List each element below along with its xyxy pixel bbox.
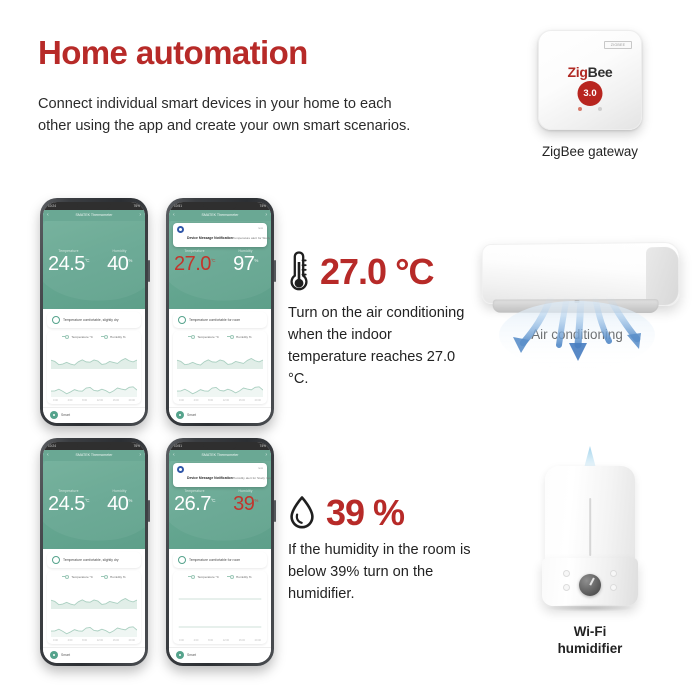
humidifier-unit bbox=[538, 452, 642, 614]
phone-notch bbox=[203, 442, 237, 449]
chart-x-tick: 4:00 bbox=[194, 399, 199, 402]
comfort-status-card[interactable]: Temperature comfortable for room bbox=[173, 552, 267, 568]
gateway-logo: ZigBee bbox=[539, 64, 641, 80]
more-options-icon[interactable]: › bbox=[139, 212, 141, 218]
smart-tab-label: Smart bbox=[61, 653, 70, 657]
callout-temperature-description: Turn on the air conditioning when the in… bbox=[288, 303, 473, 391]
legend-swatch-icon bbox=[227, 576, 234, 577]
humidifier-control-knob[interactable] bbox=[579, 574, 601, 596]
gateway-device-body: ZIGBEE ZigBee 3.0 bbox=[538, 30, 642, 130]
sensor-readouts: Temperature24.5°CHumidity40% bbox=[43, 249, 145, 274]
legend-swatch-icon bbox=[101, 336, 108, 337]
temperature-readout-number: 24.5 bbox=[48, 493, 85, 515]
chart-x-tick: 8:00 bbox=[208, 399, 213, 402]
sparkline-svg bbox=[177, 343, 263, 369]
smart-tab-icon bbox=[176, 651, 184, 659]
history-chart-card: Temperature °CHumidity %0:004:008:0012:0… bbox=[173, 331, 267, 404]
more-options-icon[interactable]: › bbox=[265, 452, 267, 458]
app-screen-title: SMATEK Thermometer bbox=[201, 453, 238, 457]
back-arrow-icon[interactable]: ‹ bbox=[173, 212, 175, 218]
chart-legend-item-humidity: Humidity % bbox=[227, 575, 252, 579]
smart-tab-label: Smart bbox=[61, 413, 70, 417]
phone-screen: 10:5174%‹SMATEK Thermometer›Device Messa… bbox=[169, 202, 271, 423]
legend-swatch-icon bbox=[101, 576, 108, 577]
notification-title: Device Message Notification bbox=[187, 236, 233, 240]
poster-canvas: Home automation Connect individual smart… bbox=[0, 0, 700, 700]
chart-x-tick: 8:00 bbox=[82, 399, 87, 402]
chart-x-axis: 0:004:008:0012:0016:0020:00 bbox=[51, 639, 137, 642]
chart-legend-item-temperature: Temperature °C bbox=[62, 575, 93, 579]
page-subtitle: Connect individual smart devices in your… bbox=[38, 93, 428, 138]
temperature-readout-number: 26.7 bbox=[174, 493, 211, 515]
comfort-status-icon bbox=[178, 556, 186, 564]
phone-screen: 10:2476%‹SMATEK Thermometer›Temperature2… bbox=[43, 202, 145, 423]
sensor-readouts: Temperature24.5°CHumidity40% bbox=[43, 489, 145, 514]
comfort-status-card[interactable]: Temperature comfortable, slightly dry bbox=[47, 312, 141, 328]
chart-x-tick: 20:00 bbox=[255, 639, 261, 642]
callout-humidity-description: If the humidity in the room is below 39%… bbox=[288, 540, 488, 606]
chart-x-axis: 0:004:008:0012:0016:0020:00 bbox=[177, 399, 263, 402]
sparkline-svg bbox=[177, 583, 263, 609]
zigbee-gateway-figure: ZIGBEE ZigBee 3.0 ZigBee gateway bbox=[510, 30, 670, 159]
phone-mockup-temp-alert: 10:5174%‹SMATEK Thermometer›Device Messa… bbox=[166, 198, 274, 426]
history-chart-card: Temperature °CHumidity %0:004:008:0012:0… bbox=[173, 571, 267, 644]
phone-mockup-humidity-normal: 10:2476%‹SMATEK Thermometer›Temperature2… bbox=[40, 438, 148, 666]
humidifier-button-wifi-icon[interactable] bbox=[610, 584, 617, 591]
sparkline-svg bbox=[51, 583, 137, 609]
humidity-readout-value: 40% bbox=[94, 254, 145, 274]
smart-tab-label: Smart bbox=[187, 413, 196, 417]
chart-legend-item-temperature: Temperature °C bbox=[188, 575, 219, 579]
callout-humidity-headline: 39 % bbox=[288, 495, 488, 531]
chart-x-tick: 20:00 bbox=[129, 639, 135, 642]
chart-x-tick: 8:00 bbox=[82, 639, 87, 642]
chart-x-tick: 0:00 bbox=[179, 639, 184, 642]
temperature-readout: Temperature24.5°C bbox=[43, 489, 94, 514]
smart-tab-icon bbox=[50, 411, 58, 419]
sensor-hero-panel: Device Message NotificationTemperature a… bbox=[169, 221, 271, 309]
status-bar-time: 10:51 bbox=[174, 204, 182, 208]
temperature-readout-unit: °C bbox=[85, 258, 89, 263]
notification-title: Device Message Notification bbox=[187, 476, 233, 480]
more-options-icon[interactable]: › bbox=[139, 452, 141, 458]
chart-legend-item-humidity: Humidity % bbox=[227, 335, 252, 339]
legend-label: Humidity % bbox=[110, 575, 126, 579]
humidity-readout-unit: % bbox=[128, 498, 132, 503]
notification-app-icon bbox=[177, 226, 184, 233]
temperature-readout: Temperature27.0°C bbox=[169, 249, 220, 274]
humidifier-figure: Wi-Fi humidifier bbox=[500, 452, 680, 658]
chart-x-tick: 0:00 bbox=[53, 399, 58, 402]
status-bar-time: 10:24 bbox=[48, 444, 56, 448]
temperature-readout-number: 27.0 bbox=[174, 253, 211, 275]
temperature-sparkline bbox=[177, 343, 263, 369]
chart-x-tick: 16:00 bbox=[239, 399, 245, 402]
smart-tab-icon bbox=[176, 411, 184, 419]
legend-label: Temperature °C bbox=[197, 335, 219, 339]
chart-legend: Temperature °CHumidity % bbox=[51, 575, 137, 579]
status-bar-battery: 76% bbox=[134, 444, 140, 448]
chart-x-tick: 4:00 bbox=[68, 639, 73, 642]
humidity-readout-unit: % bbox=[128, 258, 132, 263]
gateway-led-row bbox=[539, 98, 641, 116]
sparkline-svg bbox=[51, 371, 137, 397]
temperature-readout-unit: °C bbox=[211, 498, 215, 503]
app-screen-title: SMATEK Thermometer bbox=[75, 213, 112, 217]
water-drop-icon bbox=[288, 495, 316, 531]
smart-tab-label: Smart bbox=[187, 653, 196, 657]
chart-x-tick: 12:00 bbox=[97, 399, 103, 402]
sparkline-svg bbox=[51, 611, 137, 637]
status-bar-time: 10:24 bbox=[48, 204, 56, 208]
history-chart-card: Temperature °CHumidity %0:004:008:0012:0… bbox=[47, 571, 141, 644]
comfort-status-text: Temperature comfortable, slightly dry bbox=[63, 318, 119, 322]
gateway-led-power-icon bbox=[578, 107, 582, 111]
legend-swatch-icon bbox=[62, 576, 69, 577]
status-bar-battery: 74% bbox=[260, 204, 266, 208]
chart-plots bbox=[51, 342, 137, 399]
humidifier-shadow bbox=[546, 604, 634, 612]
status-bar: 10:2476% bbox=[43, 202, 145, 210]
humidity-sparkline bbox=[51, 611, 137, 637]
chart-legend: Temperature °CHumidity % bbox=[177, 575, 263, 579]
chart-x-tick: 20:00 bbox=[129, 399, 135, 402]
humidity-readout-number: 39 bbox=[233, 493, 254, 515]
phone-mockup-temp-normal: 10:2476%‹SMATEK Thermometer›Temperature2… bbox=[40, 198, 148, 426]
notification-app-icon bbox=[177, 466, 184, 473]
chart-legend-item-temperature: Temperature °C bbox=[188, 335, 219, 339]
temperature-sparkline bbox=[177, 583, 263, 609]
status-bar-time: 10:51 bbox=[174, 444, 182, 448]
phone-screen: 10:5174%‹SMATEK Thermometer›Device Messa… bbox=[169, 442, 271, 663]
legend-swatch-icon bbox=[62, 336, 69, 337]
gateway-chip-label: ZIGBEE bbox=[604, 41, 632, 49]
air-conditioner-unit bbox=[477, 243, 677, 319]
humidity-readout: Humidity40% bbox=[94, 489, 145, 514]
callout-temperature-rule: 27.0 °C Turn on the air conditioning whe… bbox=[288, 250, 473, 391]
chart-plots bbox=[51, 582, 137, 639]
humidity-readout-value: 39% bbox=[220, 494, 271, 514]
status-bar: 10:5174% bbox=[169, 202, 271, 210]
sparkline-svg bbox=[177, 371, 263, 397]
gateway-caption: ZigBee gateway bbox=[510, 144, 670, 159]
chart-x-tick: 20:00 bbox=[255, 399, 261, 402]
legend-swatch-icon bbox=[227, 336, 234, 337]
chart-x-tick: 4:00 bbox=[194, 639, 199, 642]
comfort-status-text: Temperature comfortable for room bbox=[189, 318, 240, 322]
humidity-sparkline bbox=[177, 611, 263, 637]
humidifier-button-timer-icon[interactable] bbox=[563, 584, 570, 591]
comfort-status-text: Temperature comfortable, slightly dry bbox=[63, 558, 119, 562]
app-nav-bar: ‹SMATEK Thermometer› bbox=[43, 450, 145, 461]
phone-notch bbox=[77, 442, 111, 449]
page-title: Home automation bbox=[38, 34, 308, 72]
humidifier-caption-line1: Wi-Fi bbox=[574, 624, 607, 639]
air-conditioner-figure: Air conditioning bbox=[468, 243, 686, 342]
humidifier-button-mode-icon[interactable] bbox=[610, 570, 617, 577]
temperature-readout: Temperature26.7°C bbox=[169, 489, 220, 514]
chart-x-tick: 0:00 bbox=[179, 399, 184, 402]
chart-x-tick: 0:00 bbox=[53, 639, 58, 642]
callout-temperature-value: 27.0 °C bbox=[320, 254, 433, 290]
comfort-status-icon bbox=[52, 556, 60, 564]
chart-x-tick: 16:00 bbox=[113, 399, 119, 402]
comfort-status-card[interactable]: Temperature comfortable, slightly dry bbox=[47, 552, 141, 568]
notification-body: Temperature alert for Study room bbox=[233, 236, 271, 240]
push-notification-banner[interactable]: Device Message NotificationTemperature a… bbox=[173, 223, 267, 247]
smart-tab-bar[interactable]: Smart bbox=[43, 407, 145, 423]
phone-screen: 10:2476%‹SMATEK Thermometer›Temperature2… bbox=[43, 442, 145, 663]
humidifier-water-window bbox=[589, 498, 591, 556]
sensor-readouts: Temperature26.7°CHumidity39% bbox=[169, 489, 271, 514]
legend-label: Humidity % bbox=[110, 335, 126, 339]
temperature-readout-value: 26.7°C bbox=[169, 494, 220, 514]
temperature-readout-value: 24.5°C bbox=[43, 254, 94, 274]
humidity-readout: Humidity40% bbox=[94, 249, 145, 274]
chart-legend-item-humidity: Humidity % bbox=[101, 575, 126, 579]
status-bar-battery: 76% bbox=[134, 204, 140, 208]
humidity-readout-value: 40% bbox=[94, 494, 145, 514]
sensor-hero-panel: Device Message NotificationHumidity aler… bbox=[169, 461, 271, 549]
back-arrow-icon[interactable]: ‹ bbox=[47, 212, 49, 218]
legend-label: Humidity % bbox=[236, 575, 252, 579]
sensor-hero-panel: Temperature24.5°CHumidity40% bbox=[43, 461, 145, 549]
humidity-readout-number: 97 bbox=[233, 253, 254, 275]
thermometer-icon bbox=[288, 250, 310, 294]
chart-plots bbox=[177, 342, 263, 399]
humidity-readout-number: 40 bbox=[107, 493, 128, 515]
gateway-logo-bee: Bee bbox=[588, 64, 613, 80]
smart-tab-bar[interactable]: Smart bbox=[43, 647, 145, 663]
humidity-readout-unit: % bbox=[254, 258, 258, 263]
callout-humidity-rule: 39 % If the humidity in the room is belo… bbox=[288, 495, 488, 606]
temperature-readout-unit: °C bbox=[85, 498, 89, 503]
callout-temperature-headline: 27.0 °C bbox=[288, 250, 473, 294]
notification-time: now bbox=[258, 466, 263, 484]
history-chart-card: Temperature °CHumidity %0:004:008:0012:0… bbox=[47, 331, 141, 404]
gateway-logo-zig: Zig bbox=[568, 64, 588, 80]
comfort-status-icon bbox=[52, 316, 60, 324]
phone-notch bbox=[203, 202, 237, 209]
humidifier-tank bbox=[545, 466, 635, 562]
smart-tab-bar[interactable]: Smart bbox=[169, 407, 271, 423]
humidity-readout-number: 40 bbox=[107, 253, 128, 275]
legend-label: Humidity % bbox=[236, 335, 252, 339]
notification-text: Device Message NotificationHumidity aler… bbox=[187, 466, 255, 484]
sensor-hero-panel: Temperature24.5°CHumidity40% bbox=[43, 221, 145, 309]
legend-label: Temperature °C bbox=[197, 575, 219, 579]
app-screen-title: SMATEK Thermometer bbox=[75, 453, 112, 457]
humidity-readout-unit: % bbox=[254, 498, 258, 503]
legend-label: Temperature °C bbox=[71, 335, 93, 339]
gateway-led-network-icon bbox=[598, 107, 602, 111]
legend-swatch-icon bbox=[188, 576, 195, 577]
humidity-readout-value: 97% bbox=[220, 254, 271, 274]
sensor-readouts: Temperature27.0°CHumidity97% bbox=[169, 249, 271, 274]
comfort-status-icon bbox=[178, 316, 186, 324]
chart-legend: Temperature °CHumidity % bbox=[51, 335, 137, 339]
status-bar: 10:5174% bbox=[169, 442, 271, 450]
humidifier-button-power-icon[interactable] bbox=[563, 570, 570, 577]
callout-humidity-value: 39 % bbox=[326, 495, 404, 531]
chart-x-axis: 0:004:008:0012:0016:0020:00 bbox=[51, 399, 137, 402]
chart-legend-item-temperature: Temperature °C bbox=[62, 335, 93, 339]
push-notification-banner[interactable]: Device Message NotificationHumidity aler… bbox=[173, 463, 267, 487]
chart-x-tick: 16:00 bbox=[239, 639, 245, 642]
app-nav-bar: ‹SMATEK Thermometer› bbox=[169, 210, 271, 221]
back-arrow-icon[interactable]: ‹ bbox=[173, 452, 175, 458]
chart-x-tick: 16:00 bbox=[113, 639, 119, 642]
smart-tab-bar[interactable]: Smart bbox=[169, 647, 271, 663]
chart-x-axis: 0:004:008:0012:0016:0020:00 bbox=[177, 639, 263, 642]
ac-airflow-icon bbox=[477, 295, 677, 373]
temperature-readout-number: 24.5 bbox=[48, 253, 85, 275]
status-bar-battery: 74% bbox=[260, 444, 266, 448]
comfort-status-card[interactable]: Temperature comfortable for room bbox=[173, 312, 267, 328]
chart-x-tick: 12:00 bbox=[223, 639, 229, 642]
chart-legend: Temperature °CHumidity % bbox=[177, 335, 263, 339]
chart-x-tick: 12:00 bbox=[223, 399, 229, 402]
sparkline-svg bbox=[177, 611, 263, 637]
humidifier-caption: Wi-Fi humidifier bbox=[500, 624, 680, 658]
status-bar: 10:2476% bbox=[43, 442, 145, 450]
humidity-sparkline bbox=[177, 371, 263, 397]
notification-time: now bbox=[258, 226, 263, 244]
comfort-status-text: Temperature comfortable for room bbox=[189, 558, 240, 562]
humidity-readout: Humidity39% bbox=[220, 489, 271, 514]
notification-text: Device Message NotificationTemperature a… bbox=[187, 226, 255, 244]
temperature-readout: Temperature24.5°C bbox=[43, 249, 94, 274]
sparkline-svg bbox=[51, 343, 137, 369]
chart-x-tick: 8:00 bbox=[208, 639, 213, 642]
notification-body: Humidity alert for Study room bbox=[233, 476, 271, 480]
phone-notch bbox=[77, 202, 111, 209]
temperature-readout-value: 24.5°C bbox=[43, 494, 94, 514]
humidifier-caption-line2: humidifier bbox=[558, 641, 623, 656]
humidity-readout: Humidity97% bbox=[220, 249, 271, 274]
temperature-readout-unit: °C bbox=[211, 258, 215, 263]
chart-legend-item-humidity: Humidity % bbox=[101, 335, 126, 339]
humidity-sparkline bbox=[51, 371, 137, 397]
temperature-readout-value: 27.0°C bbox=[169, 254, 220, 274]
legend-label: Temperature °C bbox=[71, 575, 93, 579]
temperature-sparkline bbox=[51, 343, 137, 369]
chart-plots bbox=[177, 582, 263, 639]
phone-mockup-humidity-alert: 10:5174%‹SMATEK Thermometer›Device Messa… bbox=[166, 438, 274, 666]
chart-x-tick: 4:00 bbox=[68, 399, 73, 402]
chart-x-tick: 12:00 bbox=[97, 639, 103, 642]
legend-swatch-icon bbox=[188, 336, 195, 337]
app-nav-bar: ‹SMATEK Thermometer› bbox=[43, 210, 145, 221]
app-nav-bar: ‹SMATEK Thermometer› bbox=[169, 450, 271, 461]
app-screen-title: SMATEK Thermometer bbox=[201, 213, 238, 217]
temperature-sparkline bbox=[51, 583, 137, 609]
more-options-icon[interactable]: › bbox=[265, 212, 267, 218]
smart-tab-icon bbox=[50, 651, 58, 659]
back-arrow-icon[interactable]: ‹ bbox=[47, 452, 49, 458]
